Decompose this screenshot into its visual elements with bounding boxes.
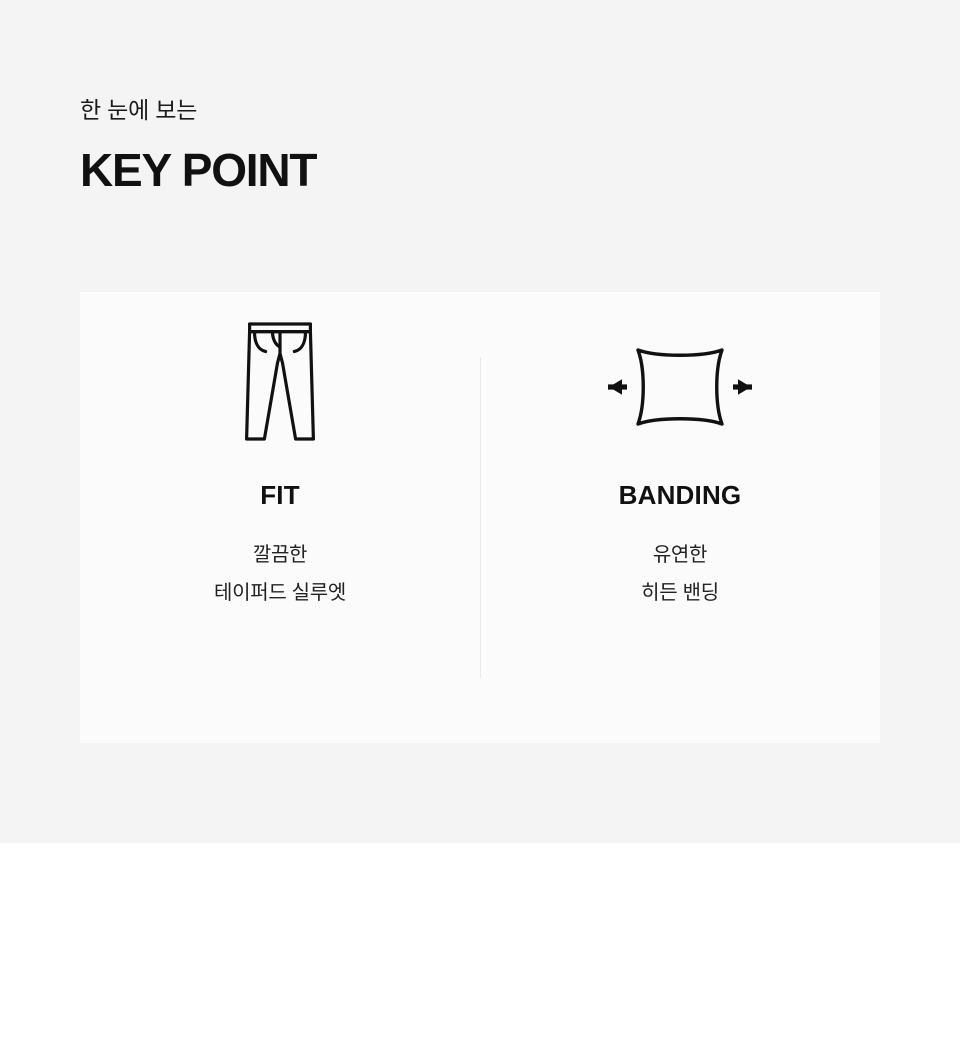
feature-desc-banding-line1: 유연한 bbox=[641, 536, 719, 574]
pants-icon bbox=[244, 292, 316, 482]
feature-desc-banding-line2: 히든 밴딩 bbox=[641, 574, 719, 612]
arrow-right-icon bbox=[733, 379, 752, 395]
column-divider bbox=[480, 357, 481, 678]
feature-title-fit: FIT bbox=[260, 482, 300, 508]
feature-title-banding: BANDING bbox=[619, 482, 742, 508]
arrow-left-icon bbox=[608, 379, 627, 395]
feature-column-banding: BANDING 유연한 히든 밴딩 bbox=[480, 292, 880, 743]
key-point-card: FIT 깔끔한 테이퍼드 실루엣 bbox=[80, 292, 880, 743]
heading-block: 한 눈에 보는 KEY POINT bbox=[80, 96, 680, 195]
feature-desc-fit-line1: 깔끔한 bbox=[214, 536, 346, 574]
page-subtitle: 한 눈에 보는 bbox=[80, 96, 680, 125]
feature-column-fit: FIT 깔끔한 테이퍼드 실루엣 bbox=[80, 292, 480, 743]
feature-desc-banding: 유연한 히든 밴딩 bbox=[641, 536, 719, 612]
page-title: KEY POINT bbox=[80, 145, 680, 196]
feature-desc-fit-line2: 테이퍼드 실루엣 bbox=[214, 574, 346, 612]
feature-desc-fit: 깔끔한 테이퍼드 실루엣 bbox=[214, 536, 346, 612]
stretch-band-icon bbox=[595, 292, 765, 482]
key-point-section: 한 눈에 보는 KEY POINT F bbox=[0, 0, 960, 843]
